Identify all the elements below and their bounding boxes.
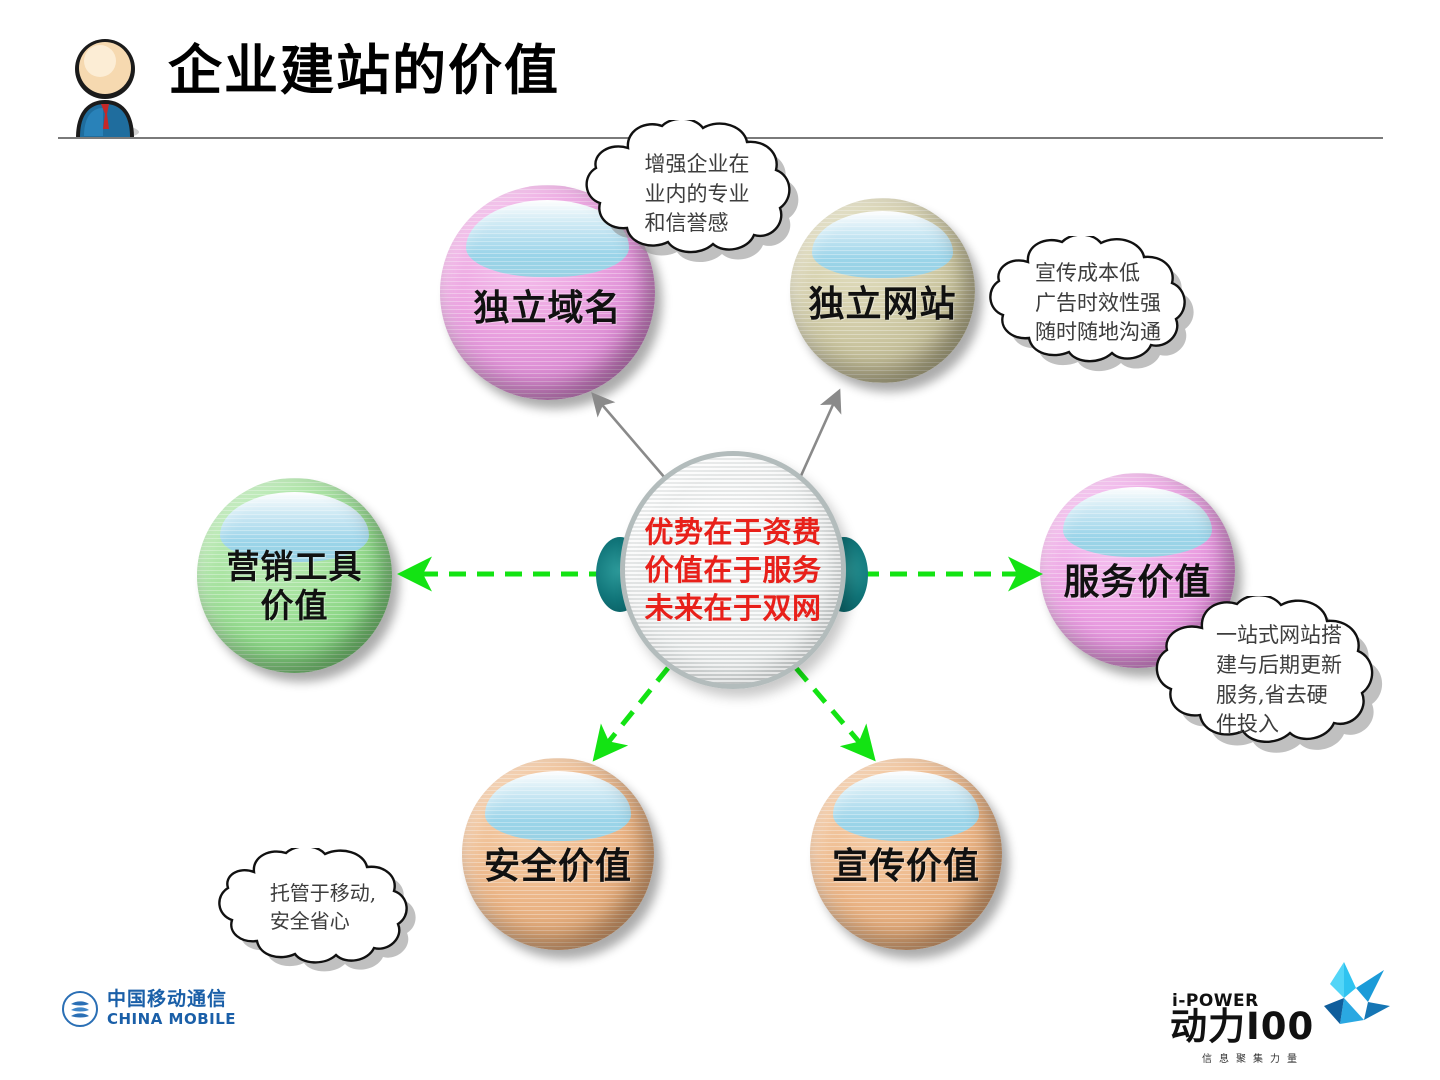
- cloud-text-hosting: 托管于移动, 安全省心: [270, 879, 376, 936]
- slide-canvas: 企业建站的价值 独立域名 独立网站: [0, 0, 1440, 1080]
- china-mobile-wordmark: 中国移动通信 CHINA MOBILE: [107, 990, 236, 1027]
- sphere-marketing-value[interactable]: 营销工具 价值: [197, 478, 392, 673]
- sphere-label-marketing: 营销工具 价值: [227, 526, 363, 626]
- ipower-logo: i-POWER 动力I00 信息聚集力量: [1168, 958, 1398, 1063]
- china-mobile-mark-icon: [62, 991, 98, 1027]
- cloud-callout-cost: 宣传成本低 广告时效性强 随时随地沟通: [972, 236, 1232, 391]
- cloud-callout-hosting: 托管于移动, 安全省心: [198, 848, 460, 978]
- sphere-label-service: 服务价值: [1063, 536, 1211, 604]
- china-mobile-logo: 中国移动通信 CHINA MOBILE: [62, 990, 236, 1027]
- cloud-callout-onestop: 一站式网站搭 建与后期更新 服务,省去硬 件投入: [1140, 596, 1418, 781]
- china-mobile-cn: 中国移动通信: [107, 990, 236, 1009]
- sphere-label-promotion: 宣传价值: [832, 820, 980, 888]
- sphere-security-value[interactable]: 安全价值: [462, 758, 654, 950]
- ipower-tagline-cn: 信息聚集力量: [1202, 1050, 1304, 1065]
- china-mobile-en: CHINA MOBILE: [107, 1012, 236, 1027]
- cloud-text-onestop: 一站式网站搭 建与后期更新 服务,省去硬 件投入: [1216, 621, 1342, 740]
- page-title: 企业建站的价值: [168, 44, 560, 98]
- ipower-wordmark: 动力I00: [1170, 1008, 1314, 1045]
- sphere-label-security: 安全价值: [484, 820, 632, 888]
- cloud-text-reputation: 增强企业在 业内的专业 和信誉感: [645, 150, 750, 239]
- person-avatar-icon: [62, 28, 148, 140]
- sphere-promotion-value[interactable]: 宣传价值: [810, 758, 1002, 950]
- sphere-center-core[interactable]: 优势在于资费 价值在于服务 未来在于双网: [620, 451, 846, 689]
- cloud-callout-reputation: 增强企业在 业内的专业 和信誉感: [568, 120, 838, 285]
- cloud-text-cost: 宣传成本低 广告时效性强 随时随地沟通: [1035, 259, 1161, 348]
- center-core-text: 优势在于资费 价值在于服务 未来在于双网: [644, 513, 821, 628]
